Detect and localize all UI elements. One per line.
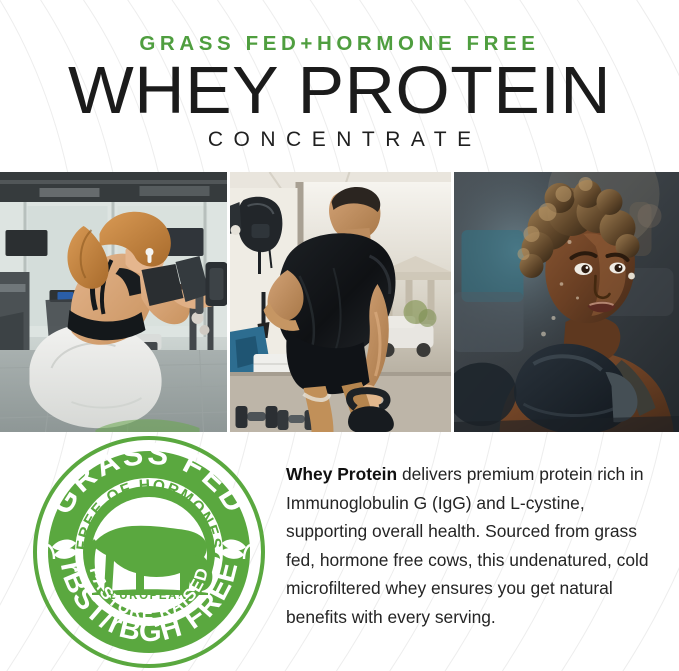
page-title: WHEY PROTEIN bbox=[0, 57, 679, 124]
product-description-rest: delivers premium protein rich in Immunog… bbox=[286, 464, 649, 627]
header-block: GRASS FED+HORMONE FREE WHEY PROTEIN CONC… bbox=[0, 0, 679, 172]
product-description: Whey Protein delivers premium protein ri… bbox=[286, 460, 668, 632]
photo-man-with-kettlebell bbox=[230, 172, 451, 432]
product-description-lead: Whey Protein bbox=[286, 464, 397, 484]
grass-fed-seal-badge: GRASS FED rBST/rBGH FREE FREE OF HORMONE… bbox=[32, 435, 266, 669]
product-infographic: GRASS FED+HORMONE FREE WHEY PROTEIN CONC… bbox=[0, 0, 679, 671]
photo-strip bbox=[0, 172, 679, 432]
photo-woman-boxing-with-gloves bbox=[454, 172, 679, 432]
photo-woman-squatting-with-dumbbell bbox=[0, 172, 227, 432]
page-subtitle: CONCENTRATE bbox=[0, 128, 679, 152]
